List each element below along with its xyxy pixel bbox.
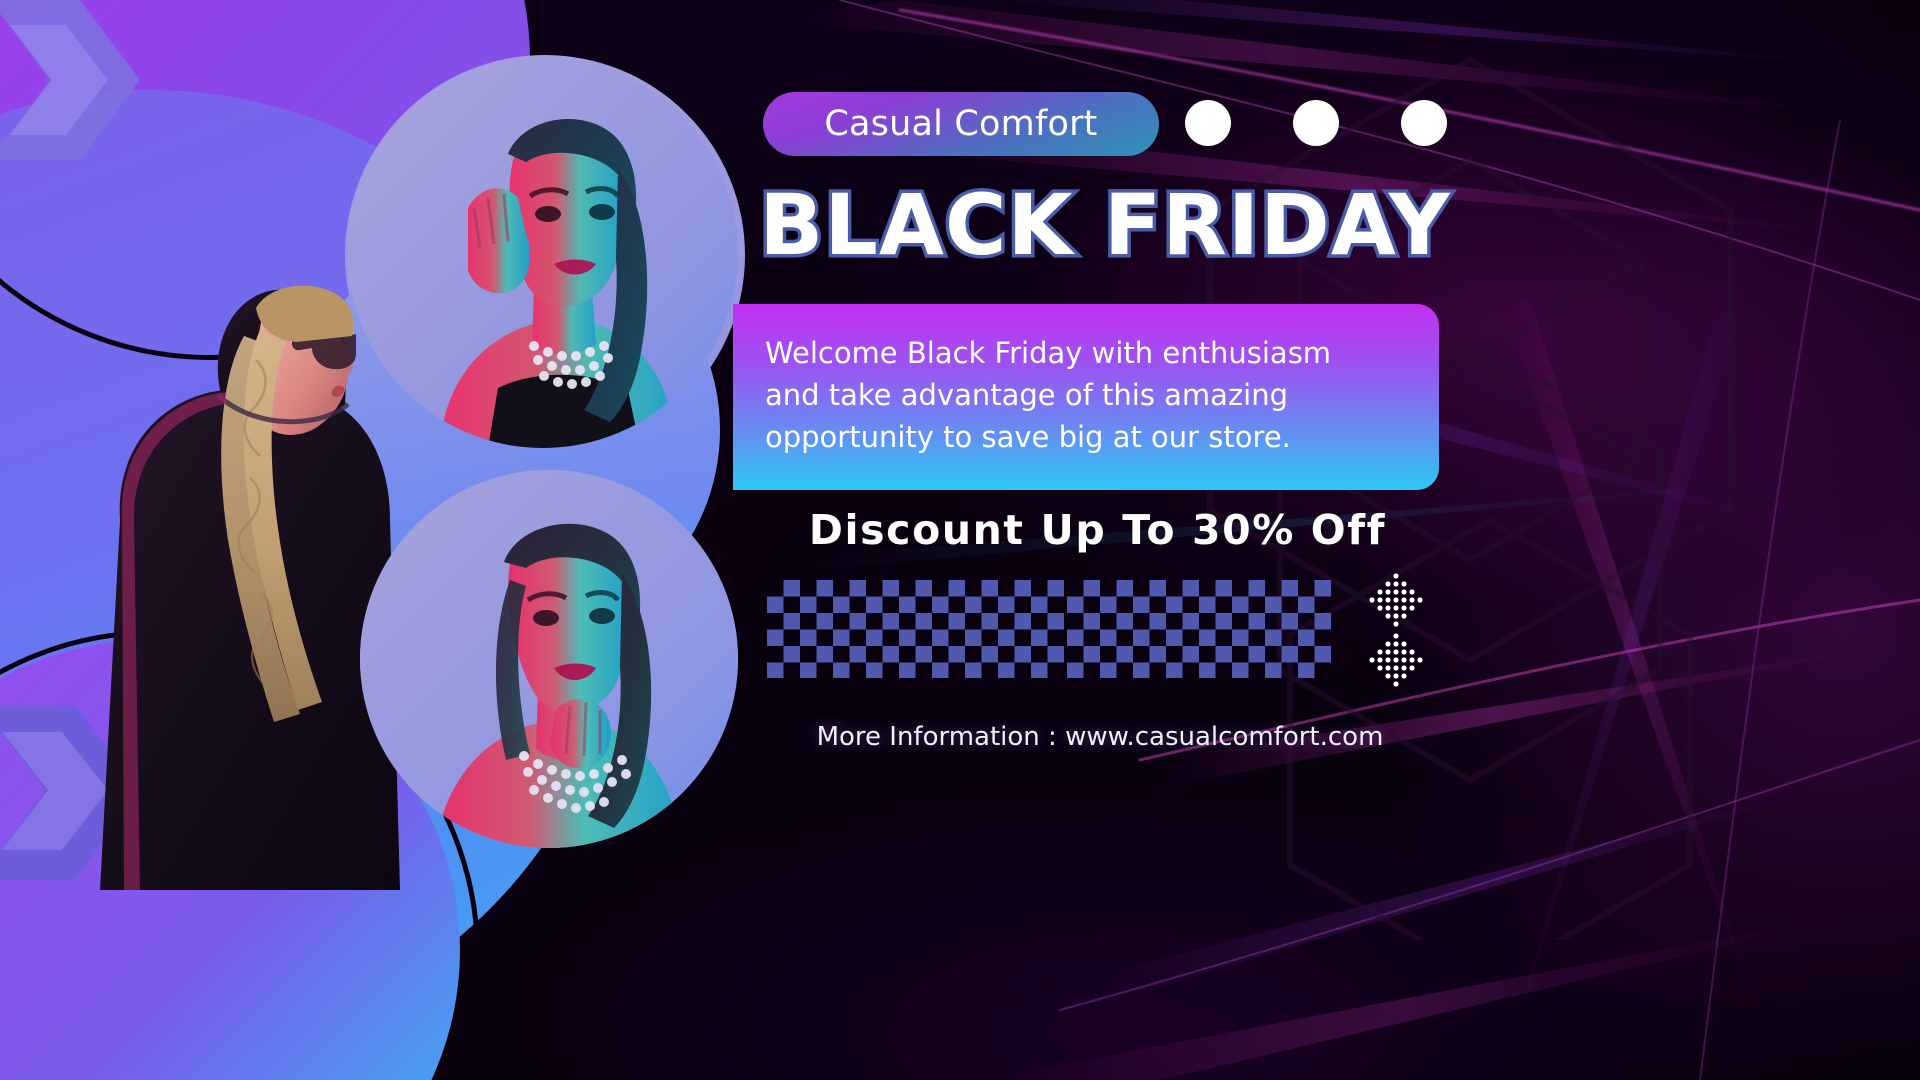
page-title: BLACK FRIDAY — [755, 183, 1455, 267]
portrait-photo-bottom — [360, 470, 738, 848]
decorative-dot-2 — [1293, 100, 1339, 146]
chevron-arrow-icon-top — [0, 0, 190, 170]
diamond-dot-ornament-icon — [1360, 570, 1432, 690]
portrait-photo-top — [348, 58, 738, 448]
portrait-bottom-illustration — [360, 470, 738, 848]
description-text: Welcome Black Friday with enthusiasm and… — [765, 332, 1390, 458]
description-line-1: Welcome Black Friday with enthusiasm — [765, 332, 1390, 374]
description-line-2: and take advantage of this amazing — [765, 374, 1390, 416]
banner-stage: Casual Comfort BLACK FRIDAY Welcome Blac… — [0, 0, 1920, 1080]
brand-badge[interactable]: Casual Comfort — [763, 92, 1159, 156]
decorative-dot-3 — [1401, 100, 1447, 146]
footer-more-information[interactable]: More Information : www.casualcomfort.com — [755, 722, 1445, 752]
description-panel: Welcome Black Friday with enthusiasm and… — [733, 304, 1439, 490]
description-line-3: opportunity to save big at our store. — [765, 416, 1390, 458]
checkerboard-pattern-left — [767, 580, 1064, 678]
decorative-dots-group — [1185, 100, 1447, 146]
portrait-top-illustration — [348, 58, 738, 448]
content-column: Casual Comfort BLACK FRIDAY Welcome Blac… — [755, 0, 1920, 1080]
checkerboard-pattern-right — [1067, 580, 1331, 678]
decorative-dot-1 — [1185, 100, 1231, 146]
brand-badge-label: Casual Comfort — [824, 104, 1097, 144]
discount-headline: Discount Up To 30% Off — [755, 506, 1440, 554]
